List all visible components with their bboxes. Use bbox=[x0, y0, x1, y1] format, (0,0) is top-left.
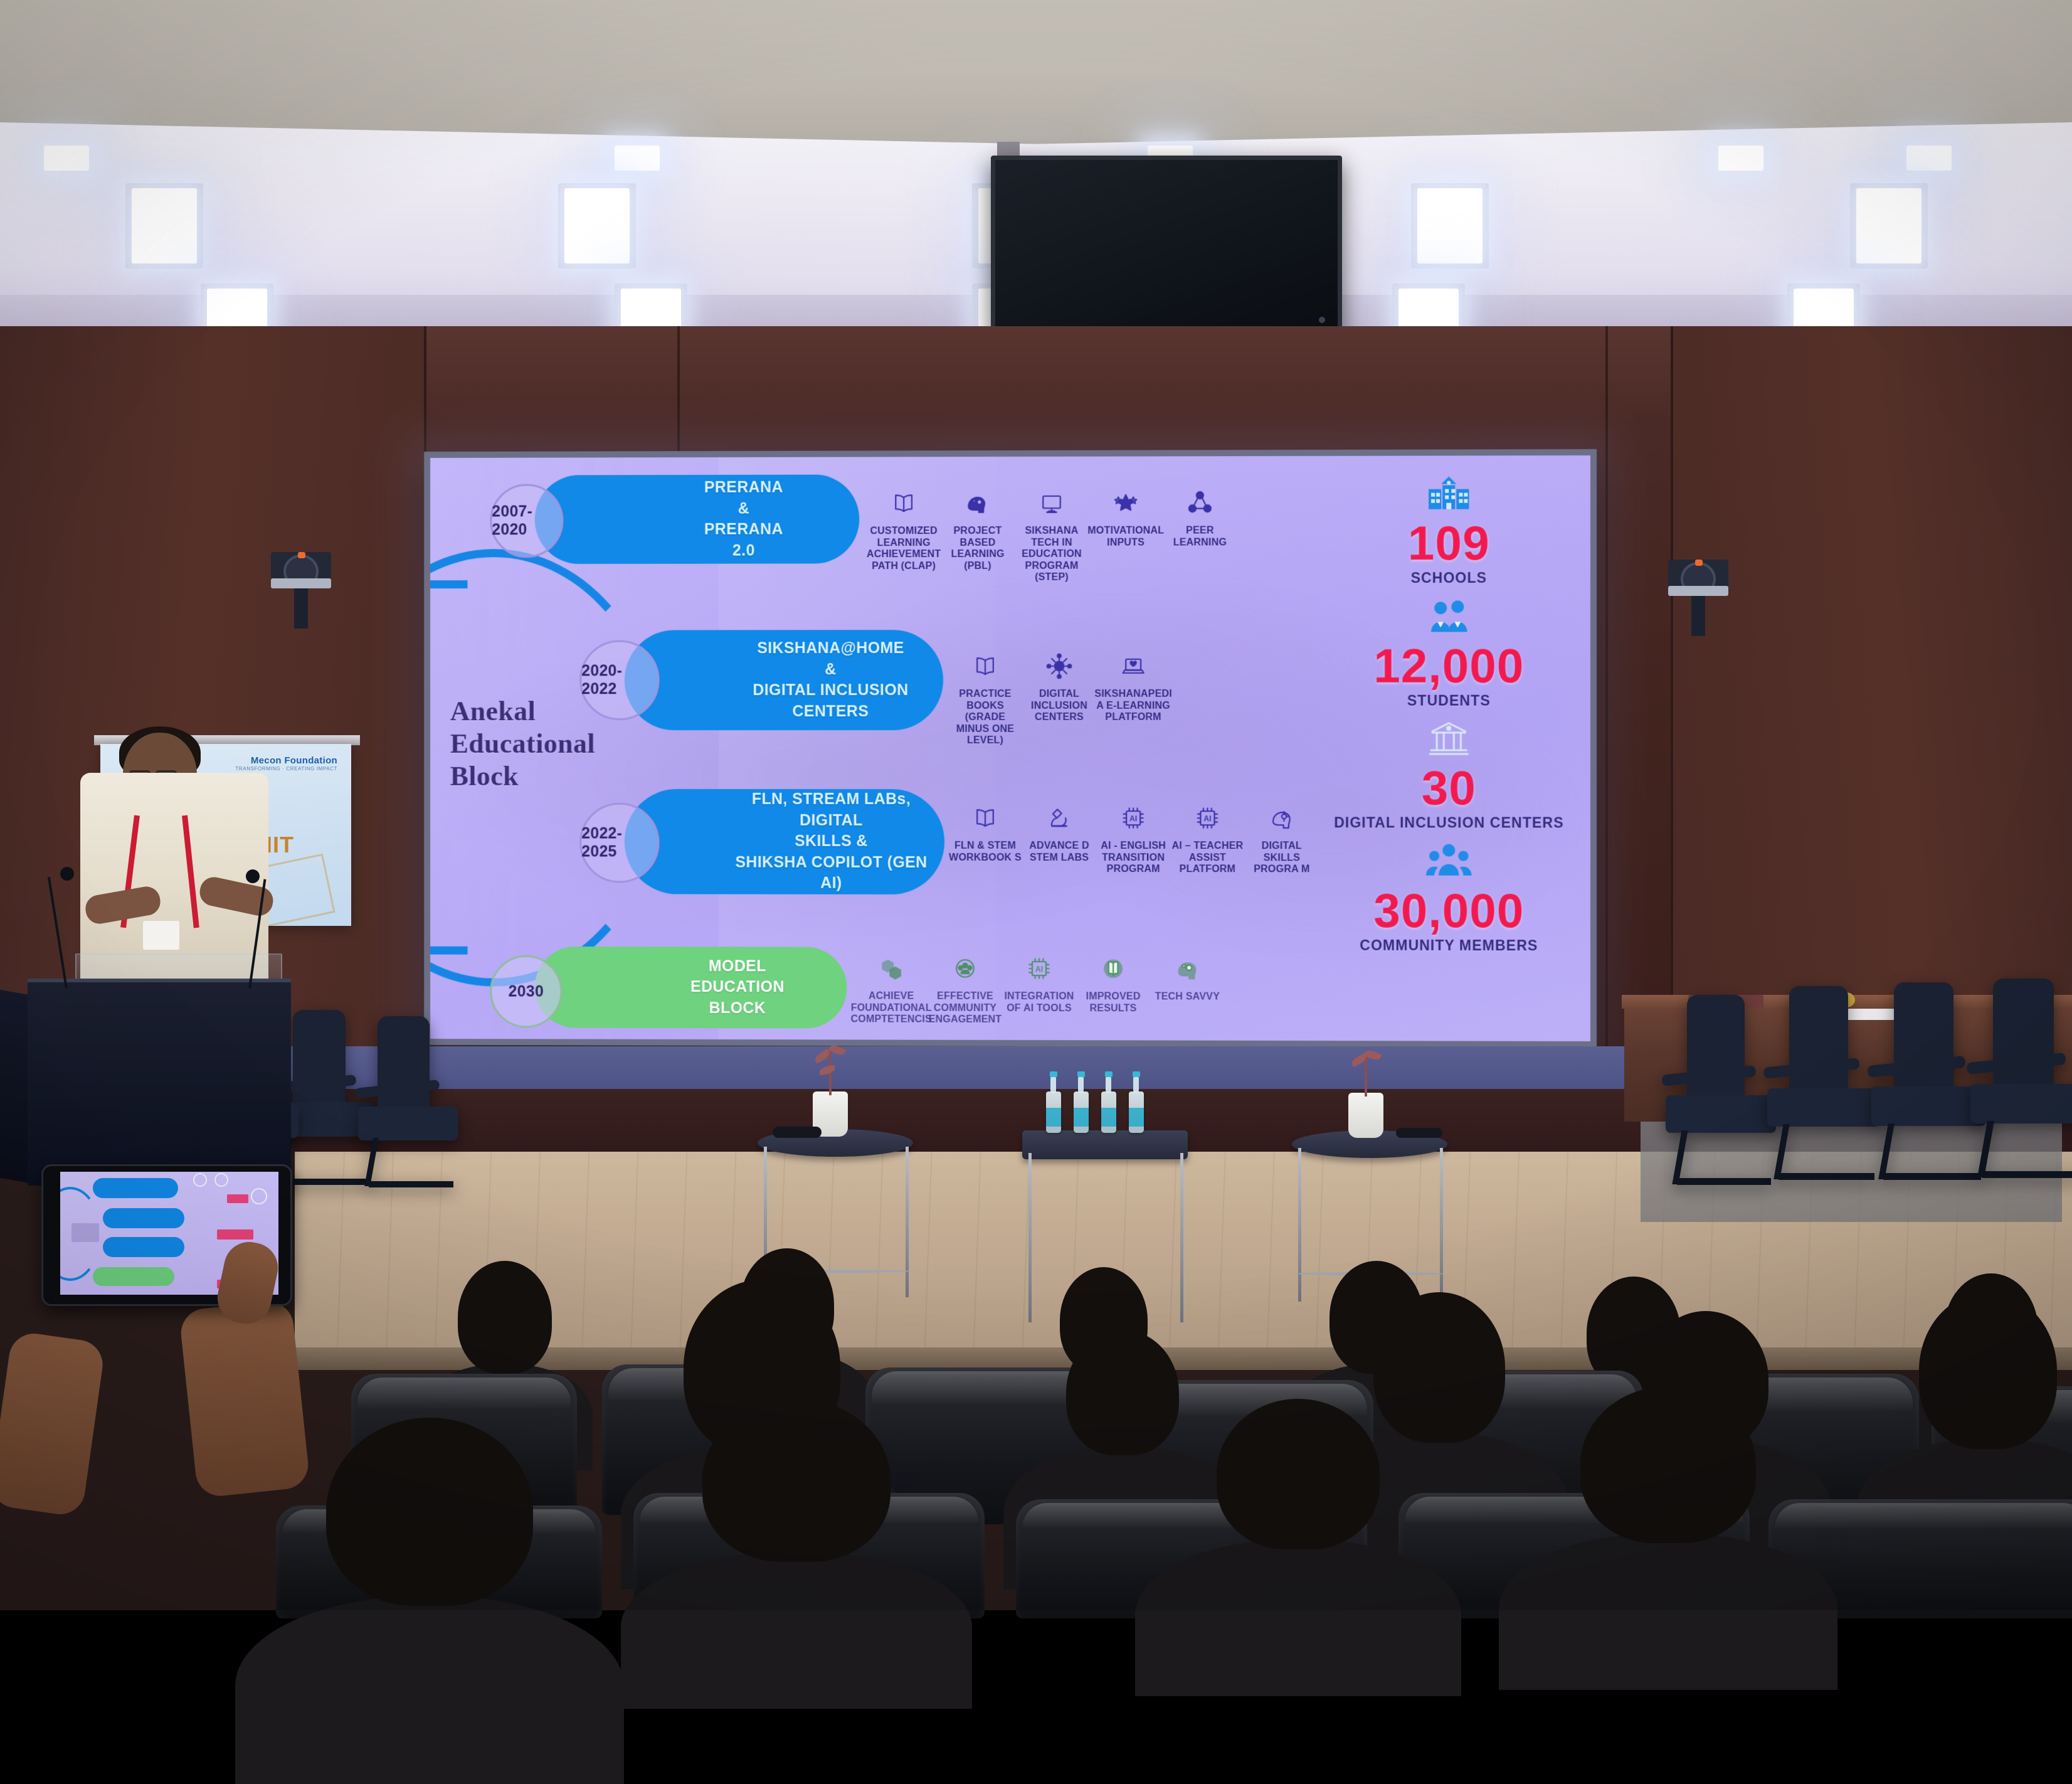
ceiling-light bbox=[1718, 146, 1763, 171]
icon-item: AI AI - ENGLISH TRANSITION PROGRAM bbox=[1096, 799, 1170, 876]
ceiling-light bbox=[564, 188, 630, 263]
microphone-on-table-icon bbox=[1396, 1128, 1442, 1138]
speaker-badge bbox=[143, 921, 179, 950]
svg-text:AI: AI bbox=[1203, 815, 1211, 824]
icon-label: MOTIVATIONAL INPUTS bbox=[1087, 526, 1164, 549]
chair-leg bbox=[1878, 1123, 1895, 1179]
icon-label: DIGITAL INCLUSION CENTERS bbox=[1022, 689, 1096, 724]
timeline-icons-1: CUSTOMIZED LEARNING ACHIEVEMENT PATH (CL… bbox=[867, 484, 1237, 584]
timeline-icons-4: ACHIEVE FOUNDATIONAL COMPTETENCIS EFFECT… bbox=[854, 950, 1224, 1027]
icon-item: DIGITAL INCLUSION CENTERS bbox=[1022, 647, 1096, 724]
audience-head bbox=[1919, 1292, 2057, 1449]
icon-label: CUSTOMIZED LEARNING ACHIEVEMENT PATH (CL… bbox=[867, 526, 941, 572]
audience-head-foreground bbox=[326, 1418, 533, 1606]
monitor-icon bbox=[1038, 484, 1065, 522]
icon-label: TECH SAVVY bbox=[1155, 991, 1220, 1003]
book-badge-icon bbox=[1099, 950, 1127, 987]
chair-leg bbox=[1672, 1130, 1688, 1184]
timeline-phase-2[interactable]: SIKSHANA@HOME&DIGITAL INCLUSIONCENTERS bbox=[625, 630, 943, 730]
chair-seat bbox=[358, 1107, 457, 1140]
bottle-label bbox=[1074, 1108, 1089, 1127]
table-leg bbox=[1180, 1153, 1183, 1322]
ceiling-light bbox=[1417, 188, 1483, 263]
community-group-icon bbox=[1329, 838, 1568, 886]
bottle-cap-icon bbox=[1050, 1071, 1057, 1077]
hand-right bbox=[179, 1299, 310, 1498]
stage-chair[interactable] bbox=[1967, 979, 2072, 1176]
bottle-label bbox=[1101, 1108, 1116, 1127]
phone-slide-pill bbox=[103, 1237, 184, 1257]
wall-tv-screen bbox=[991, 156, 1342, 337]
bottle-label bbox=[1046, 1108, 1061, 1127]
bottle-label bbox=[1129, 1108, 1144, 1127]
icon-item: CUSTOMIZED LEARNING ACHIEVEMENT PATH (CL… bbox=[867, 484, 941, 572]
chair-seat bbox=[1666, 1095, 1776, 1133]
chair-seat bbox=[1970, 1084, 2072, 1123]
timeline-arc-tail-top bbox=[430, 580, 467, 588]
phone-slide-stat bbox=[227, 1194, 248, 1203]
audience-seat-highlight bbox=[1775, 1503, 2072, 1529]
icon-item: AI AI – TEACHER ASSIST PLATFORM bbox=[1170, 799, 1244, 876]
head-gear-icon bbox=[964, 484, 991, 522]
icon-item: PROJECT BASED LEARNING (PBL) bbox=[941, 484, 1015, 572]
stat-4: 30,000 COMMUNITY MEMBERS bbox=[1329, 838, 1568, 955]
table-leg bbox=[1028, 1153, 1032, 1322]
table-top bbox=[1022, 1130, 1188, 1159]
table-leg bbox=[1440, 1148, 1443, 1302]
phone-slide-stat bbox=[217, 1229, 253, 1240]
chair-seat bbox=[1767, 1088, 1880, 1127]
chair-leg bbox=[1774, 1124, 1790, 1179]
chair-base bbox=[1982, 1171, 2072, 1179]
phone-slide-pill bbox=[103, 1208, 184, 1228]
audience-head bbox=[458, 1261, 552, 1374]
icon-label: AI – TEACHER ASSIST PLATFORM bbox=[1170, 841, 1244, 876]
school-building-icon bbox=[1329, 470, 1568, 519]
camera-switch-icon[interactable] bbox=[251, 1188, 267, 1204]
icon-label: PRACTICE BOOKS (GRADE MINUS ONE LEVEL) bbox=[948, 689, 1022, 747]
hand-left bbox=[0, 1330, 106, 1517]
projection-screen[interactable]: AnekalEducationalBlock PRERANA&PRERANA2.… bbox=[424, 449, 1597, 1048]
icon-label: ACHIEVE FOUNDATIONAL COMPTETENCIS bbox=[851, 991, 932, 1026]
icon-label: INTEGRATION OF AI TOOLS bbox=[1002, 991, 1076, 1014]
open-book-icon bbox=[971, 799, 999, 837]
timeline-year-2: 2020-2022 bbox=[579, 640, 659, 720]
stat-value: 30,000 bbox=[1329, 887, 1568, 935]
tv-indicator-icon bbox=[1319, 317, 1325, 323]
ceiling-light bbox=[1856, 188, 1921, 263]
icon-label: SIKSHANAPEDI A E-LEARNING PLATFORM bbox=[1094, 689, 1172, 724]
svg-text:AI: AI bbox=[1035, 965, 1043, 974]
stat-value: 109 bbox=[1329, 519, 1568, 568]
icon-label: AI - ENGLISH TRANSITION PROGRAM bbox=[1096, 841, 1170, 876]
head-digital-icon bbox=[1268, 799, 1296, 837]
stat-label: STUDENTS bbox=[1329, 692, 1568, 709]
audience-seat-highlight bbox=[357, 1378, 571, 1410]
ai-chip-icon: AI bbox=[1119, 799, 1147, 837]
blocks-icon bbox=[877, 950, 905, 987]
wall-seam bbox=[1605, 326, 1608, 1066]
bottle-neck bbox=[1078, 1076, 1084, 1093]
chair-leg bbox=[364, 1138, 379, 1186]
icon-label: PEER LEARNING bbox=[1163, 525, 1237, 548]
icon-item: AI INTEGRATION OF AI TOOLS bbox=[1002, 950, 1076, 1014]
icon-item: SIKSHANA TECH IN EDUCATION PROGRAM (STEP… bbox=[1015, 484, 1089, 584]
icon-item: EFFECTIVE COMMUNITY ENGAGEMENT bbox=[928, 950, 1002, 1026]
ceiling-light bbox=[44, 146, 89, 171]
phone-slide-title bbox=[71, 1223, 99, 1242]
camera-led-icon bbox=[1695, 560, 1703, 566]
timeline-year-1: 2007-2020 bbox=[490, 484, 563, 558]
stage-chair[interactable] bbox=[355, 1016, 473, 1186]
logo-tagline: TRANSFORMING · CREATING IMPACT bbox=[235, 766, 337, 772]
icon-item: SIKSHANAPEDI A E-LEARNING PLATFORM bbox=[1096, 647, 1170, 724]
plant-stem-icon bbox=[1365, 1054, 1367, 1096]
auditorium-room: AnekalEducationalBlock PRERANA&PRERANA2.… bbox=[0, 0, 2072, 1610]
timeline-icons-2: PRACTICE BOOKS (GRADE MINUS ONE LEVEL) D… bbox=[948, 647, 1170, 747]
ai-chip-icon: AI bbox=[1025, 950, 1053, 987]
audience-head bbox=[1217, 1399, 1380, 1549]
icon-item: PEER LEARNING bbox=[1163, 484, 1237, 548]
ceiling bbox=[0, 0, 2072, 144]
audience-shoulders bbox=[1499, 1533, 1837, 1690]
foundation-logo: Mecon Foundation TRANSFORMING · CREATING… bbox=[235, 755, 337, 772]
institution-icon bbox=[1329, 716, 1568, 763]
timeline-year-4: 2030 bbox=[490, 955, 562, 1028]
digital-hub-icon bbox=[1045, 647, 1073, 685]
camera-ring-icon bbox=[271, 578, 331, 588]
timeline-arc-tail-bottom bbox=[430, 946, 467, 954]
phone-slide-pill bbox=[93, 1178, 178, 1198]
network-people-icon bbox=[1186, 484, 1213, 521]
audience-head bbox=[1373, 1292, 1505, 1443]
ceiling-light bbox=[132, 188, 197, 263]
audience-shoulders bbox=[235, 1596, 624, 1784]
timeline-phase-1[interactable]: PRERANA&PRERANA2.0 bbox=[535, 474, 860, 564]
camera-shutter-icon[interactable] bbox=[193, 1173, 207, 1187]
icon-item: MOTIVATIONAL INPUTS bbox=[1089, 484, 1163, 549]
laptop-icon bbox=[1119, 647, 1147, 685]
icon-item: FLN & STEM WORKBOOK S bbox=[948, 799, 1022, 864]
ai-chip-icon: AI bbox=[1193, 799, 1221, 837]
stat-label: DIGITAL INCLUSION CENTERS bbox=[1329, 814, 1568, 832]
audience-head bbox=[1580, 1386, 1756, 1543]
camera-led-icon bbox=[298, 552, 305, 558]
plant-pot bbox=[1348, 1093, 1383, 1138]
icon-label: IMPROVED RESULTS bbox=[1076, 991, 1150, 1014]
chair-base bbox=[1677, 1178, 1771, 1185]
camera-flash-icon[interactable] bbox=[214, 1173, 228, 1187]
icon-item: DIGITAL SKILLS PROGRA M bbox=[1245, 799, 1319, 876]
students-icon bbox=[1329, 593, 1568, 642]
head-gear-green-icon bbox=[1173, 950, 1201, 987]
stat-label: COMMUNITY MEMBERS bbox=[1329, 937, 1568, 955]
bottle-cap-icon bbox=[1133, 1071, 1140, 1077]
chair-base bbox=[1779, 1173, 1874, 1180]
timeline-year-3: 2022-2025 bbox=[579, 803, 659, 883]
icon-item: TECH SAVVY bbox=[1150, 950, 1224, 1003]
audience-head bbox=[702, 1399, 891, 1562]
bottle-neck bbox=[1050, 1076, 1056, 1093]
table-leg bbox=[906, 1147, 909, 1297]
open-book-icon bbox=[971, 647, 999, 685]
microphone-on-table-icon bbox=[773, 1127, 822, 1138]
icon-item: IMPROVED RESULTS bbox=[1076, 950, 1150, 1014]
podium-mic-head-icon bbox=[60, 867, 74, 881]
audience-head bbox=[1066, 1330, 1179, 1455]
community-circle-icon bbox=[951, 950, 979, 987]
open-book-icon bbox=[890, 484, 917, 522]
stat-1: 109 SCHOOLS bbox=[1329, 470, 1568, 587]
audience-shoulders bbox=[1135, 1539, 1461, 1696]
podium bbox=[28, 979, 291, 1186]
icon-item: ACHIEVE FOUNDATIONAL COMPTETENCIS bbox=[854, 950, 928, 1026]
audience-seat-highlight bbox=[872, 1371, 1097, 1406]
stat-2: 12,000 STUDENTS bbox=[1329, 593, 1568, 709]
ceiling-light bbox=[615, 146, 660, 171]
icon-label: SIKSHANA TECH IN EDUCATION PROGRAM (STEP… bbox=[1015, 526, 1089, 584]
icon-item: PRACTICE BOOKS (GRADE MINUS ONE LEVEL) bbox=[948, 647, 1022, 747]
icon-label: FLN & STEM WORKBOOK S bbox=[948, 841, 1022, 864]
svg-text:AI: AI bbox=[1129, 815, 1137, 824]
stat-label: SCHOOLS bbox=[1329, 570, 1568, 587]
icon-item: ADVANCE D STEM LABS bbox=[1022, 799, 1096, 864]
icon-label: PROJECT BASED LEARNING (PBL) bbox=[941, 526, 1015, 572]
stat-3: 30 DIGITAL INCLUSION CENTERS bbox=[1329, 716, 1568, 832]
phone-slide-pill-green bbox=[93, 1267, 174, 1286]
microscope-icon bbox=[1045, 799, 1073, 837]
star-icon bbox=[1112, 484, 1139, 522]
statistics-panel: 109 SCHOOLS 12,000 STUDENTS 30 DIGITAL I… bbox=[1329, 470, 1568, 961]
podium-mic-head-icon bbox=[246, 869, 260, 883]
logo-name: Mecon Foundation bbox=[235, 755, 337, 766]
camera-ring-icon bbox=[1668, 586, 1728, 596]
timeline-icons-3: FLN & STEM WORKBOOK S ADVANCE D STEM LAB… bbox=[948, 799, 1319, 876]
icon-label: EFFECTIVE COMMUNITY ENGAGEMENT bbox=[928, 991, 1002, 1026]
table-leg bbox=[1298, 1148, 1301, 1302]
stat-value: 30 bbox=[1329, 765, 1568, 812]
timeline-phase-3[interactable]: FLN, STREAM LABs, DIGITALSKILLS &SHIKSHA… bbox=[625, 789, 944, 895]
icon-label: ADVANCE D STEM LABS bbox=[1022, 841, 1096, 864]
page-title: AnekalEducationalBlock bbox=[450, 695, 606, 792]
stat-value: 12,000 bbox=[1329, 642, 1568, 690]
chair-leg bbox=[1977, 1121, 1994, 1177]
chair-base bbox=[369, 1181, 453, 1187]
bottle-neck bbox=[1133, 1076, 1139, 1093]
icon-label: DIGITAL SKILLS PROGRA M bbox=[1245, 841, 1319, 876]
bottle-cap-icon bbox=[1105, 1071, 1113, 1077]
bottle-neck bbox=[1106, 1076, 1111, 1093]
timeline-phase-4[interactable]: MODELEDUCATIONBLOCK bbox=[535, 947, 847, 1029]
audience-shoulders bbox=[621, 1552, 972, 1709]
bottle-cap-icon bbox=[1077, 1071, 1085, 1077]
presentation-slide[interactable]: AnekalEducationalBlock PRERANA&PRERANA2.… bbox=[430, 455, 1590, 1041]
ceiling-light bbox=[1906, 146, 1952, 171]
